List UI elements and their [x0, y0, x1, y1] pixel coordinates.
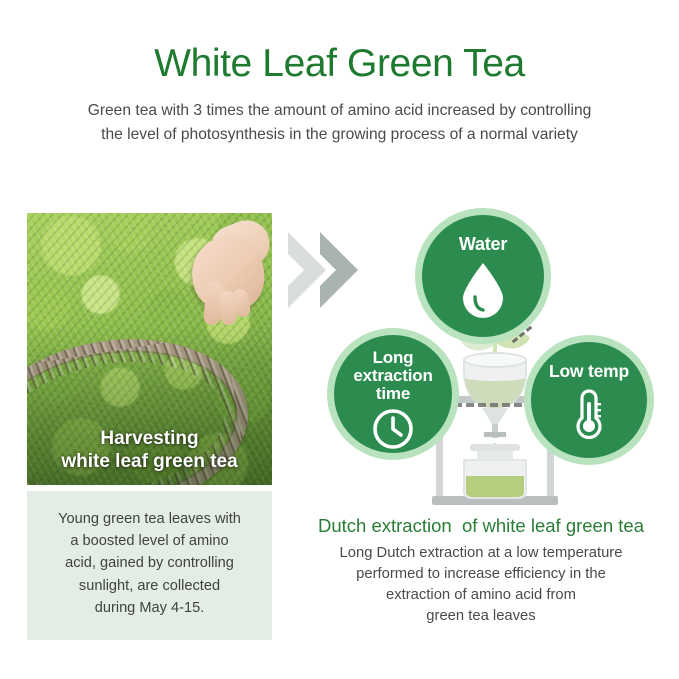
- harvest-caption-line-5: during May 4-15.: [39, 597, 260, 619]
- diagram-body-line-4: green tea leaves: [290, 606, 672, 627]
- harvest-panel: Harvesting white leaf green tea Young gr…: [27, 213, 272, 640]
- flask-extract-liquid: [466, 476, 524, 497]
- photo-overlay-caption: Harvesting white leaf green tea: [27, 428, 272, 473]
- bubble-water-label: Water: [459, 235, 507, 254]
- page-subtitle: Green tea with 3 times the amount of ami…: [40, 99, 640, 147]
- diagram-body-line-2: performed to increase efficiency in the: [290, 564, 672, 585]
- page-subtitle-line-2: the level of photosynthesis in the growi…: [40, 123, 640, 147]
- bubble-time-label-line-2: extraction: [353, 366, 432, 385]
- valve-knob: [484, 432, 506, 437]
- page-subtitle-line-1: Green tea with 3 times the amount of ami…: [40, 99, 640, 123]
- flask-collar: [470, 444, 520, 451]
- harvest-caption-line-2: a boosted level of amino: [39, 530, 260, 552]
- photo-overlay-line-2: white leaf green tea: [27, 451, 272, 473]
- harvest-caption-box: Young green tea leaves with a boosted le…: [27, 491, 272, 640]
- bubble-time-label-line-3: time: [376, 384, 410, 403]
- bowl-rim: [464, 353, 526, 367]
- clock-icon: [371, 407, 415, 456]
- photo-overlay-line-1: Harvesting: [27, 428, 272, 450]
- harvest-caption-line-4: sunlight, are collected: [39, 575, 260, 597]
- bubble-water[interactable]: Water: [415, 208, 551, 344]
- bubble-temp-label: Low temp: [549, 362, 629, 381]
- funnel: [482, 408, 508, 424]
- thermometer-icon: [570, 387, 608, 446]
- diagram-body-line-1: Long Dutch extraction at a low temperatu…: [290, 543, 672, 564]
- diagram-footer: Dutch extraction of white leaf green tea…: [290, 515, 672, 627]
- bubble-time-label: Long extraction time: [353, 349, 432, 403]
- bubble-time-label-line-1: Long: [373, 348, 414, 367]
- harvest-photo: Harvesting white leaf green tea: [27, 213, 272, 485]
- bubble-low-temp[interactable]: Low temp: [524, 335, 654, 465]
- page-header: White Leaf Green Tea Green tea with 3 ti…: [0, 44, 679, 147]
- diagram-body-line-3: extraction of amino acid from: [290, 585, 672, 606]
- water-drop-icon: [458, 260, 508, 323]
- page-title: White Leaf Green Tea: [0, 44, 679, 85]
- harvest-caption-line-1: Young green tea leaves with: [39, 508, 260, 530]
- diagram-body-text: Long Dutch extraction at a low temperatu…: [290, 543, 672, 627]
- bubble-long-extraction-time[interactable]: Long extraction time: [327, 328, 459, 460]
- diagram-heading: Dutch extraction of white leaf green tea: [290, 515, 672, 537]
- harvest-caption-line-3: acid, gained by controlling: [39, 552, 260, 574]
- dutch-extraction-diagram: Water Long extraction time Low temp: [320, 200, 665, 510]
